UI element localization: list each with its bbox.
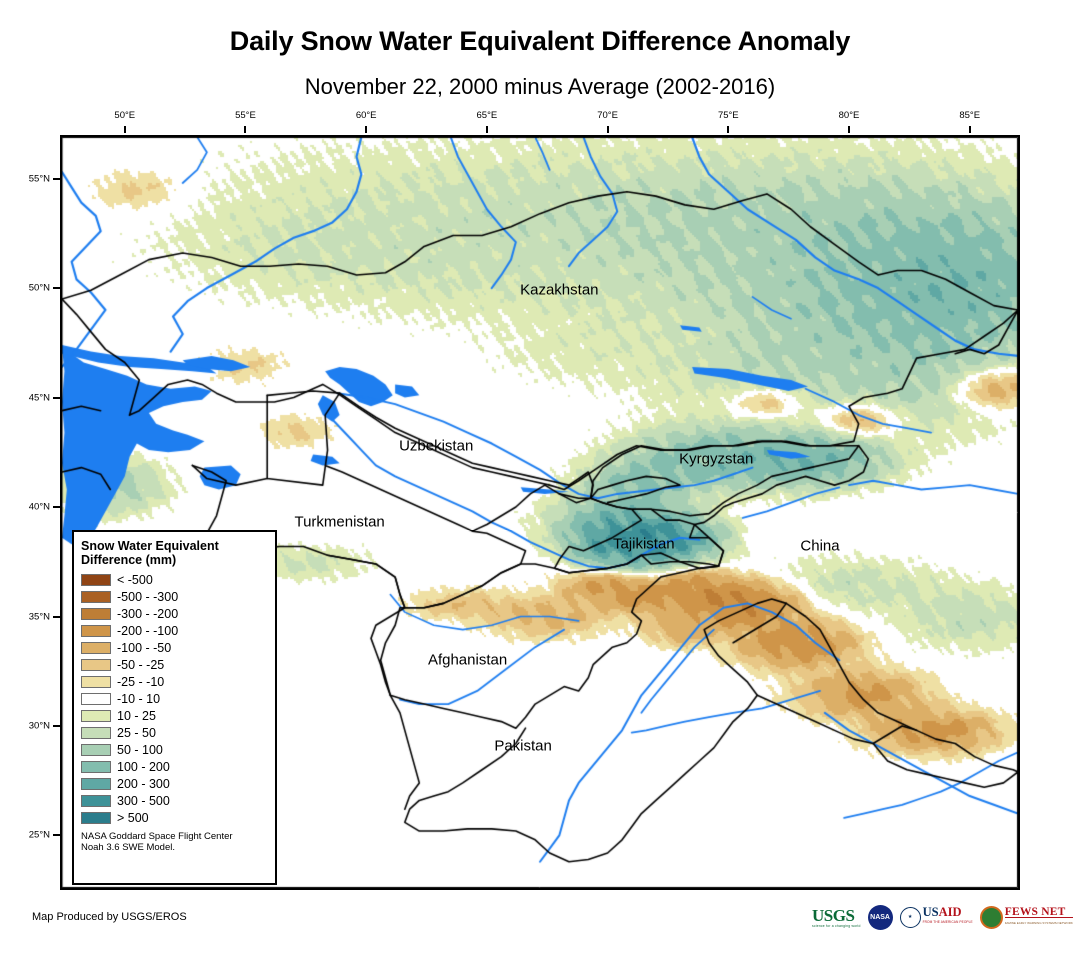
legend-class-label: -500 - -300 <box>117 591 178 603</box>
lat-tick-mark <box>53 287 60 289</box>
country-label: Afghanistan <box>428 652 507 669</box>
lon-tick-mark <box>969 126 971 133</box>
lon-tick-label: 65°E <box>477 110 498 121</box>
legend-row: 25 - 50 <box>81 724 268 741</box>
legend-color-swatch <box>81 761 111 773</box>
agency-logo-strip: USGS science for a changing world NASA ★… <box>812 903 1073 931</box>
lat-tick-mark <box>53 725 60 727</box>
legend-color-swatch <box>81 778 111 790</box>
legend-class-label: 10 - 25 <box>117 710 156 722</box>
legend-class-label: > 500 <box>117 812 149 824</box>
lon-tick-mark <box>244 126 246 133</box>
legend-footnote-line2: Noah 3.6 SWE Model. <box>81 842 268 854</box>
legend-class-label: -100 - -50 <box>117 642 171 654</box>
usaid-seal-icon: ★ <box>900 907 921 928</box>
usaid-logo-tagline: FROM THE AMERICAN PEOPLE <box>923 917 973 927</box>
lon-tick-mark <box>124 126 126 133</box>
legend-color-swatch <box>81 574 111 586</box>
legend-row: -500 - -300 <box>81 588 268 605</box>
lon-tick-label: 70°E <box>597 110 618 121</box>
legend-color-swatch <box>81 642 111 654</box>
legend-title-line2: Difference (mm) <box>81 553 268 568</box>
legend-class-label: 200 - 300 <box>117 778 170 790</box>
legend-color-swatch <box>81 608 111 620</box>
map-legend: Snow Water Equivalent Difference (mm) < … <box>72 530 277 885</box>
country-label: Turkmenistan <box>294 514 384 531</box>
legend-class-label: -300 - -200 <box>117 608 178 620</box>
lon-tick-label: 80°E <box>839 110 860 121</box>
legend-color-swatch <box>81 591 111 603</box>
legend-row: 300 - 500 <box>81 792 268 809</box>
map-credit: Map Produced by USGS/EROS <box>32 911 187 923</box>
legend-class-label: < -500 <box>117 574 153 586</box>
lat-tick-mark <box>53 616 60 618</box>
lat-tick-mark <box>53 178 60 180</box>
legend-row: -100 - -50 <box>81 639 268 656</box>
legend-class-label: 25 - 50 <box>117 727 156 739</box>
legend-row: 50 - 100 <box>81 741 268 758</box>
legend-title-line1: Snow Water Equivalent <box>81 539 268 554</box>
lon-tick-mark <box>365 126 367 133</box>
lon-tick-label: 60°E <box>356 110 377 121</box>
legend-color-swatch <box>81 727 111 739</box>
lat-tick-label: 30°N <box>16 720 50 731</box>
nasa-logo: NASA <box>868 905 893 930</box>
legend-row: 200 - 300 <box>81 775 268 792</box>
country-label: Uzbekistan <box>399 437 473 454</box>
lon-tick-label: 50°E <box>114 110 135 121</box>
lat-tick-mark <box>53 834 60 836</box>
usgs-logo-word: USGS <box>812 907 854 924</box>
lon-tick-label: 85°E <box>959 110 980 121</box>
legend-color-swatch <box>81 625 111 637</box>
legend-row: -10 - 10 <box>81 690 268 707</box>
usgs-logo-tagline: science for a changing world <box>812 924 861 928</box>
legend-row: -300 - -200 <box>81 605 268 622</box>
page-subtitle: November 22, 2000 minus Average (2002-20… <box>0 74 1080 100</box>
legend-color-swatch <box>81 710 111 722</box>
legend-color-swatch <box>81 659 111 671</box>
legend-row: 10 - 25 <box>81 707 268 724</box>
lat-tick-label: 45°N <box>16 392 50 403</box>
nasa-logo-word: NASA <box>870 914 890 921</box>
fews-net-logo-tagline: FAMINE EARLY WARNING SYSTEMS NETWORK <box>1005 918 1073 928</box>
country-label: China <box>800 538 839 555</box>
country-label: Kyrgyzstan <box>679 450 753 467</box>
lat-tick-label: 55°N <box>16 173 50 184</box>
lat-tick-label: 40°N <box>16 502 50 513</box>
lon-tick-label: 75°E <box>718 110 739 121</box>
legend-row: -50 - -25 <box>81 656 268 673</box>
usgs-logo: USGS science for a changing world <box>812 904 861 930</box>
lat-tick-label: 25°N <box>16 830 50 841</box>
lat-tick-label: 50°N <box>16 283 50 294</box>
legend-color-swatch <box>81 676 111 688</box>
lon-tick-mark <box>607 126 609 133</box>
country-label: Pakistan <box>494 737 552 754</box>
legend-color-swatch <box>81 812 111 824</box>
usaid-logo: ★ USAID FROM THE AMERICAN PEOPLE <box>900 904 973 930</box>
lon-tick-label: 55°E <box>235 110 256 121</box>
legend-row: < -500 <box>81 571 268 588</box>
legend-row: 100 - 200 <box>81 758 268 775</box>
lat-tick-mark <box>53 397 60 399</box>
legend-class-label: 50 - 100 <box>117 744 163 756</box>
legend-row: -200 - -100 <box>81 622 268 639</box>
legend-class-label: -50 - -25 <box>117 659 164 671</box>
legend-row: -25 - -10 <box>81 673 268 690</box>
globe-icon <box>980 906 1003 929</box>
page-title: Daily Snow Water Equivalent Difference A… <box>0 26 1080 57</box>
legend-color-swatch <box>81 795 111 807</box>
legend-color-swatch <box>81 693 111 705</box>
legend-class-label: 100 - 200 <box>117 761 170 773</box>
legend-color-swatch <box>81 744 111 756</box>
fews-net-logo: FEWS NET FAMINE EARLY WARNING SYSTEMS NE… <box>980 904 1073 930</box>
country-label: Tajikistan <box>613 536 675 553</box>
legend-class-label: -200 - -100 <box>117 625 178 637</box>
lat-tick-label: 35°N <box>16 611 50 622</box>
legend-class-label: 300 - 500 <box>117 795 170 807</box>
usaid-logo-word: USAID <box>923 907 973 917</box>
legend-class-list: < -500-500 - -300-300 - -200-200 - -100-… <box>81 571 268 826</box>
fews-net-logo-word: FEWS NET <box>1005 907 1073 918</box>
legend-row: > 500 <box>81 809 268 826</box>
lat-tick-mark <box>53 506 60 508</box>
lon-tick-mark <box>848 126 850 133</box>
lon-tick-mark <box>486 126 488 133</box>
legend-class-label: -25 - -10 <box>117 676 164 688</box>
country-label: Kazakhstan <box>520 282 598 299</box>
lon-tick-mark <box>727 126 729 133</box>
legend-class-label: -10 - 10 <box>117 693 160 705</box>
